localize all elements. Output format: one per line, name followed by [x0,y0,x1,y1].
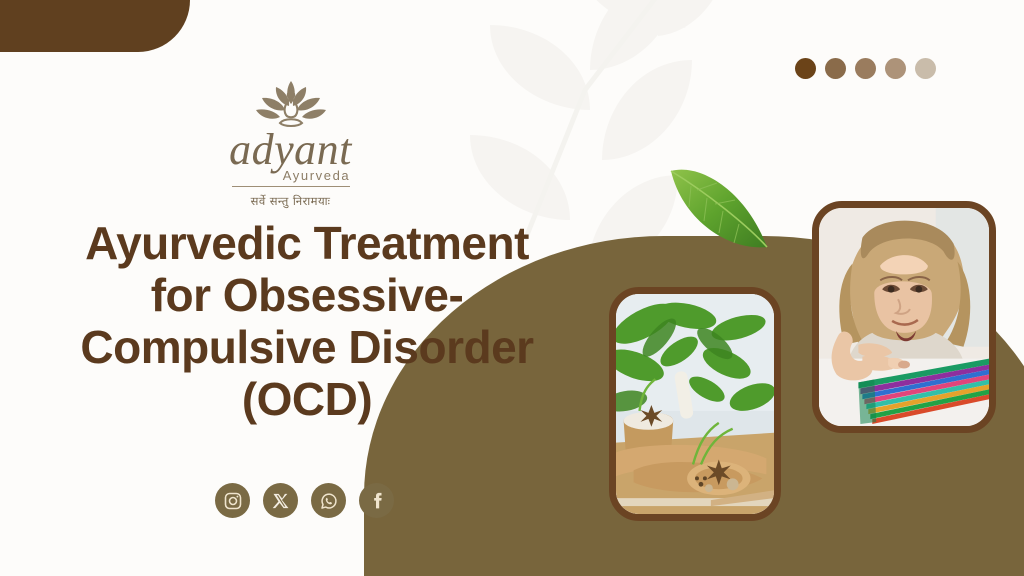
green-leaf-icon [659,155,779,265]
headline-line-3: Compulsive Disorder [18,322,596,374]
pencils-image [819,208,989,426]
top-left-accent-bar [0,0,190,52]
brand-logo: adyant Ayurveda सर्वे सन्तु निरामयाः [183,78,398,209]
facebook-icon[interactable] [359,483,394,518]
palette-dot-row [795,58,936,79]
ocd-pencils-photo [812,201,996,433]
instagram-icon[interactable] [215,483,250,518]
x-twitter-icon[interactable] [263,483,298,518]
whatsapp-icon[interactable] [311,483,346,518]
palette-dot-5 [915,58,936,79]
headline-line-4: (OCD) [18,374,596,426]
herbs-image [616,294,774,514]
headline-line-1: Ayurvedic Treatment [18,218,596,270]
headline-line-2: for Obsessive- [18,270,596,322]
brand-name: adyant [183,128,398,172]
brand-sanskrit-motto: सर्वे सन्तु निरामयाः [183,194,398,209]
page-title: Ayurvedic Treatment for Obsessive- Compu… [18,218,596,426]
palette-dot-2 [825,58,846,79]
palette-dot-3 [855,58,876,79]
palette-dot-1 [795,58,816,79]
palette-dot-4 [885,58,906,79]
poster-canvas: adyant Ayurveda सर्वे सन्तु निरामयाः Ayu… [0,0,1024,576]
brand-tagline: Ayurveda [183,168,398,183]
ayurvedic-herbs-photo [609,287,781,521]
logo-divider [232,186,350,187]
social-links[interactable] [215,483,394,518]
